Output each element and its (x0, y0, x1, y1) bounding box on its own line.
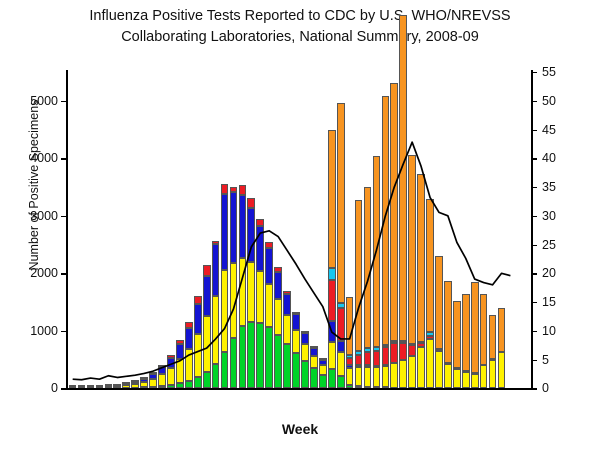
bar-segment (176, 359, 184, 383)
bar-segment (185, 349, 193, 381)
y-right-tick-label: 10 (542, 324, 556, 338)
bar-segment (247, 322, 255, 389)
bar-segment (426, 339, 434, 388)
bar-week-21 (364, 187, 372, 389)
y-right-tick (531, 216, 537, 217)
bar-week-44 (105, 386, 113, 388)
bar-week-36 (498, 308, 506, 389)
bar-segment (417, 174, 425, 342)
bar-segment (319, 358, 327, 360)
bar-segment (176, 344, 184, 359)
bar-week-2 (194, 296, 202, 389)
bar-week-17 (328, 130, 336, 389)
bar-week-8 (247, 198, 255, 388)
bar-segment (230, 263, 238, 338)
y-right-tick (531, 360, 537, 361)
bar-segment (328, 342, 336, 370)
bar-segment (417, 347, 425, 388)
bar-segment (364, 187, 372, 348)
bar-week-25 (399, 15, 407, 389)
bar-segment (256, 226, 264, 271)
y-right-tick-label: 5 (542, 353, 549, 367)
bar-week-34 (480, 294, 488, 389)
bar-week-11 (274, 267, 282, 388)
bar-segment (131, 380, 139, 382)
bar-week-10 (265, 242, 273, 388)
bar-segment (194, 296, 202, 304)
bar-segment (230, 187, 238, 192)
bar-week-49 (149, 373, 157, 388)
x-axis-label: Week (0, 421, 600, 437)
bar-segment (426, 332, 434, 337)
bar-week-48 (140, 378, 148, 388)
bar-segment (149, 372, 157, 374)
y-right-tick-label: 35 (542, 180, 556, 194)
bar-week-9 (256, 219, 264, 388)
bar-segment (283, 291, 291, 294)
bar-week-16 (319, 359, 327, 388)
bar-segment (301, 333, 309, 344)
chart-root: Influenza Positive Tests Reported to CDC… (0, 0, 600, 450)
bar-segment (176, 340, 184, 344)
y-right-tick (531, 388, 537, 389)
bar-week-29 (435, 256, 443, 388)
bar-segment (292, 312, 300, 315)
bar-segment (480, 294, 488, 365)
bar-segment (337, 303, 345, 308)
bar-segment (444, 281, 452, 363)
bar-segment (167, 368, 175, 385)
bar-segment (390, 363, 398, 387)
bar-segment (462, 372, 470, 389)
bar-week-1 (185, 322, 193, 388)
bar-week-13 (292, 312, 300, 389)
bar-segment (489, 360, 497, 389)
bar-week-7 (239, 185, 247, 388)
bar-segment (328, 321, 336, 342)
bar-week-50 (158, 365, 166, 389)
y-right-tick-label: 30 (542, 209, 556, 223)
bar-segment (301, 361, 309, 388)
bar-week-32 (462, 294, 470, 389)
bar-segment (373, 156, 381, 347)
bar-segment (373, 367, 381, 388)
bar-segment (221, 270, 229, 352)
y-left-tick (61, 101, 66, 102)
bar-week-40 (69, 387, 77, 388)
bar-segment (328, 130, 336, 268)
bar-week-46 (122, 384, 130, 389)
chart-title-line-1: Influenza Positive Tests Reported to CDC… (0, 6, 600, 27)
bar-segment (462, 294, 470, 371)
bar-segment (274, 267, 282, 272)
bar-segment (265, 327, 273, 388)
bar-segment (301, 331, 309, 333)
y-right-tick-label: 0 (542, 381, 549, 395)
bar-segment (373, 347, 381, 350)
bar-segment (453, 369, 461, 388)
bar-segment (239, 185, 247, 195)
bar-segment (390, 83, 398, 341)
bar-segment (87, 385, 95, 387)
bar-week-22 (373, 156, 381, 388)
y-left-tick-label: 5000 (30, 94, 58, 108)
chart-title-line-2: Collaborating Laboratories, National Sum… (0, 27, 600, 48)
bar-segment (480, 365, 488, 388)
y-axis-right-line (531, 70, 533, 390)
bar-segment (382, 96, 390, 345)
y-left-tick (61, 388, 66, 389)
bar-segment (221, 352, 229, 389)
y-right-tick (531, 72, 537, 73)
bar-segment (337, 103, 345, 303)
bar-segment (355, 386, 363, 388)
y-right-tick (531, 158, 537, 159)
bar-segment (149, 379, 157, 387)
bar-segment (176, 383, 184, 388)
y-right-tick (531, 331, 537, 332)
bar-segment (212, 364, 220, 389)
bar-segment (69, 385, 77, 387)
bar-segment (256, 219, 264, 226)
bar-segment (239, 326, 247, 388)
bar-segment (122, 385, 130, 387)
bar-segment (399, 343, 407, 360)
bar-week-43 (96, 386, 104, 388)
bar-week-33 (471, 282, 479, 388)
bar-week-23 (382, 96, 390, 388)
y-right-tick (531, 273, 537, 274)
bar-segment (167, 355, 175, 358)
bar-week-35 (489, 315, 497, 388)
bar-segment (230, 192, 238, 263)
bar-segment (337, 376, 345, 388)
chart-title: Influenza Positive Tests Reported to CDC… (0, 6, 600, 48)
plot-area: 010002000300040005000 051015202530354045… (66, 70, 533, 390)
y-left-tick (61, 158, 66, 159)
y-left-tick (61, 273, 66, 274)
bar-week-42 (87, 387, 95, 389)
bar-week-45 (113, 385, 121, 388)
bar-segment (489, 315, 497, 359)
bar-segment (185, 322, 193, 328)
bar-segment (373, 351, 381, 366)
bar-segment (498, 352, 506, 389)
bar-segment (382, 366, 390, 388)
y-right-tick-label: 15 (542, 295, 556, 309)
bar-segment (337, 352, 345, 376)
bar-segment (158, 386, 166, 389)
y-right-tick-label: 40 (542, 151, 556, 165)
bar-segment (247, 262, 255, 322)
bar-segment (364, 352, 372, 365)
bar-segment (408, 345, 416, 355)
bar-segment (167, 358, 175, 368)
bar-segment (355, 200, 363, 351)
bar-segment (239, 195, 247, 258)
bar-segment (319, 375, 327, 389)
bar-segment (382, 345, 390, 348)
y-right-tick (531, 101, 537, 102)
bar-segment (247, 198, 255, 208)
bar-segment (310, 348, 318, 355)
bar-segment (346, 365, 354, 368)
y-right-tick-label: 20 (542, 266, 556, 280)
bar-segment (203, 316, 211, 372)
bar-segment (498, 308, 506, 352)
bar-segment (274, 335, 282, 389)
bar-segment (140, 377, 148, 379)
bar-segment (346, 355, 354, 358)
bar-segment (435, 256, 443, 349)
bar-segment (212, 296, 220, 364)
bar-segment (274, 272, 282, 300)
bar-segment (382, 347, 390, 364)
bar-segment (346, 368, 354, 385)
bar-segment (212, 244, 220, 296)
bar-segment (185, 381, 193, 388)
bar-segment (453, 301, 461, 369)
bar-segment (194, 377, 202, 388)
bar-segment (283, 344, 291, 389)
bar-segment (185, 328, 193, 349)
bar-segment (346, 358, 354, 364)
bar-week-12 (283, 291, 291, 389)
y-left-tick-label: 3000 (30, 209, 58, 223)
y-right-tick-label: 45 (542, 123, 556, 137)
bar-segment (221, 184, 229, 194)
bar-segment (247, 208, 255, 262)
bar-segment (408, 356, 416, 388)
bar-segment (390, 343, 398, 363)
bar-segment (364, 367, 372, 387)
x-axis-line (66, 388, 533, 390)
bar-segment (203, 276, 211, 316)
bar-segment (239, 258, 247, 326)
bar-week-47 (131, 382, 139, 389)
bar-segment (337, 308, 345, 340)
bar-segment (230, 338, 238, 389)
bar-week-15 (310, 347, 318, 389)
bar-segment (167, 385, 175, 388)
bar-week-18 (337, 103, 345, 388)
bar-segment (149, 374, 157, 378)
bar-segment (105, 384, 113, 386)
bar-segment (78, 385, 86, 387)
bar-segment (292, 330, 300, 353)
bar-segment (265, 242, 273, 248)
bar-segment (131, 382, 139, 384)
bar-week-51 (167, 355, 175, 389)
bar-segment (471, 282, 479, 373)
bar-week-30 (444, 281, 452, 388)
bar-segment (328, 369, 336, 388)
y-right-tick (531, 187, 537, 188)
bar-segment (131, 384, 139, 387)
bar-segment (194, 334, 202, 378)
bar-segment (328, 280, 336, 321)
bar-week-27 (417, 174, 425, 389)
bar-segment (471, 374, 479, 388)
y-left-tick (61, 331, 66, 332)
y-axis-left-line (66, 70, 68, 390)
bar-segment (355, 365, 363, 367)
bar-segment (355, 367, 363, 386)
bar-segment (346, 297, 354, 355)
bar-segment (149, 386, 157, 388)
y-right-tick (531, 245, 537, 246)
bar-segment (283, 294, 291, 315)
bar-segment (292, 314, 300, 330)
bar-segment (283, 315, 291, 344)
bar-week-14 (301, 331, 309, 388)
bar-segment (203, 372, 211, 388)
bar-segment (399, 360, 407, 388)
bar-week-19 (346, 297, 354, 388)
bar-week-28 (426, 199, 434, 388)
bar-segment (426, 199, 434, 331)
bar-segment (256, 271, 264, 323)
y-left-tick-label: 2000 (30, 266, 58, 280)
bar-segment (355, 351, 363, 355)
bar-segment (337, 341, 345, 353)
bar-week-6 (230, 187, 238, 388)
bar-segment (158, 365, 166, 367)
bar-segment (113, 384, 121, 386)
bar-segment (355, 355, 363, 365)
bar-segment (158, 367, 166, 374)
bar-segment (274, 299, 282, 335)
bar-segment (310, 356, 318, 369)
y-right-tick-label: 25 (542, 238, 556, 252)
bar-segment (310, 346, 318, 348)
y-right-tick-label: 55 (542, 65, 556, 79)
bar-segment (319, 365, 327, 374)
bar-segment (310, 368, 318, 388)
bar-week-31 (453, 301, 461, 389)
bar-segment (140, 382, 148, 387)
bar-segment (399, 15, 407, 342)
bar-segment (221, 194, 229, 270)
bar-segment (158, 374, 166, 386)
bar-segment (328, 268, 336, 280)
bar-segment (265, 248, 273, 284)
bar-segment (292, 353, 300, 389)
bar-week-26 (408, 155, 416, 388)
y-right-tick (531, 302, 537, 303)
bar-segment (408, 155, 416, 344)
bar-week-3 (203, 265, 211, 388)
bar-segment (194, 304, 202, 334)
bar-segment (426, 336, 434, 338)
bar-segment (444, 364, 452, 388)
bar-segment (212, 241, 220, 244)
bar-segment (122, 382, 130, 384)
bar-segment (346, 385, 354, 388)
bar-segment (256, 323, 264, 389)
bar-segment (364, 348, 372, 353)
y-right-tick (531, 130, 537, 131)
y-left-tick-label: 4000 (30, 151, 58, 165)
bar-week-24 (390, 83, 398, 388)
bar-week-52 (176, 340, 184, 389)
bar-segment (96, 385, 104, 387)
bar-week-20 (355, 200, 363, 388)
bar-week-41 (78, 387, 86, 388)
bar-segment (203, 265, 211, 275)
bar-week-5 (221, 184, 229, 388)
bar-segment (301, 344, 309, 361)
bar-week-4 (212, 241, 220, 389)
bar-segment (435, 351, 443, 388)
bar-segment (265, 284, 273, 328)
bar-segment (417, 343, 425, 347)
y-left-tick-label: 0 (51, 381, 58, 395)
bar-segment (140, 379, 148, 382)
y-right-tick-label: 50 (542, 94, 556, 108)
y-left-tick-label: 1000 (30, 324, 58, 338)
bar-segment (319, 360, 327, 365)
y-left-tick (61, 216, 66, 217)
bar-segment (399, 341, 407, 343)
bar-segment (390, 341, 398, 343)
